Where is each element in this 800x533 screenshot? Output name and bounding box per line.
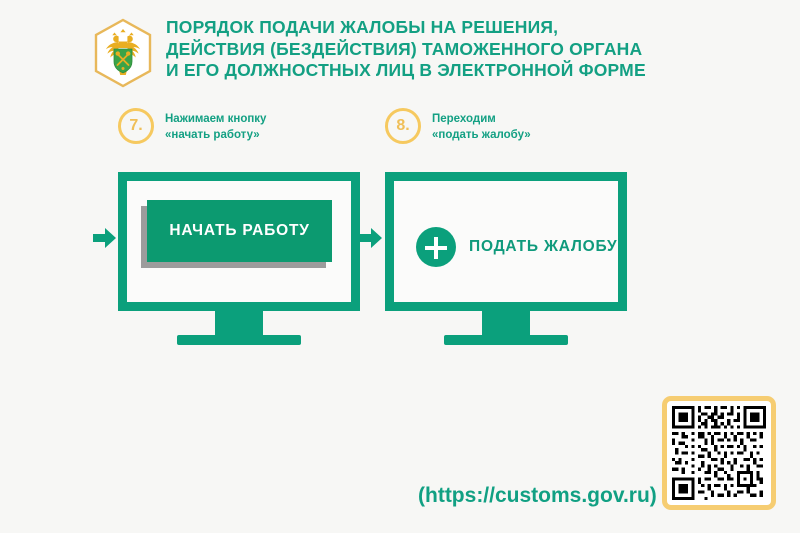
step-7: 7. Нажимаем кнопку «начать работу» xyxy=(118,108,266,144)
monitor-submit-complaint: ПОДАТЬ ЖАЛОБУ xyxy=(385,172,627,345)
title-line-3: И ЕГО ДОЛЖНОСТНЫХ ЛИЦ В ЭЛЕКТРОННОЙ ФОРМ… xyxy=(166,60,646,82)
monitor-2-stand-neck xyxy=(482,311,530,335)
step-7-number-badge: 7. xyxy=(118,108,154,144)
step-8-number-badge: 8. xyxy=(385,108,421,144)
submit-complaint-label[interactable]: ПОДАТЬ ЖАЛОБУ xyxy=(469,238,618,256)
step-8-line-1: Переходим xyxy=(432,111,531,127)
arrow-right-icon xyxy=(92,225,118,251)
step-8: 8. Переходим «подать жалобу» xyxy=(385,108,531,144)
monitor-start-work: НАЧАТЬ РАБОТУ xyxy=(118,172,360,345)
step-7-line-2: «начать работу» xyxy=(165,127,266,143)
step-8-line-2: «подать жалобу» xyxy=(432,127,531,143)
monitor-1-stand-base xyxy=(177,335,301,345)
monitor-1-stand-neck xyxy=(215,311,263,335)
title-line-1: ПОРЯДОК ПОДАЧИ ЖАЛОБЫ НА РЕШЕНИЯ, xyxy=(166,17,646,39)
step-7-line-1: Нажимаем кнопку xyxy=(165,111,266,127)
federal-customs-service-emblem xyxy=(92,18,154,88)
start-work-button-wrap: НАЧАТЬ РАБОТУ xyxy=(147,200,332,262)
poster-header: ПОРЯДОК ПОДАЧИ ЖАЛОБЫ НА РЕШЕНИЯ, ДЕЙСТВ… xyxy=(92,16,712,96)
qr-code[interactable] xyxy=(662,396,776,510)
site-url[interactable]: (https://customs.gov.ru) xyxy=(418,484,657,508)
title-line-2: ДЕЙСТВИЯ (БЕЗДЕЙСТВИЯ) ТАМОЖЕННОГО ОРГАН… xyxy=(166,39,646,61)
plus-icon[interactable] xyxy=(416,227,456,267)
step-7-text: Нажимаем кнопку «начать работу» xyxy=(165,108,266,143)
monitor-2-screen: ПОДАТЬ ЖАЛОБУ xyxy=(385,172,627,311)
step-8-text: Переходим «подать жалобу» xyxy=(432,108,531,143)
submit-complaint-action[interactable]: ПОДАТЬ ЖАЛОБУ xyxy=(416,227,618,267)
plus-icon-vertical-bar xyxy=(434,237,438,259)
monitor-2-stand-base xyxy=(444,335,568,345)
infographic-poster: ПОРЯДОК ПОДАЧИ ЖАЛОБЫ НА РЕШЕНИЯ, ДЕЙСТВ… xyxy=(0,0,800,533)
start-work-button[interactable]: НАЧАТЬ РАБОТУ xyxy=(147,200,332,262)
arrow-right-icon xyxy=(358,225,384,251)
poster-title: ПОРЯДОК ПОДАЧИ ЖАЛОБЫ НА РЕШЕНИЯ, ДЕЙСТВ… xyxy=(166,16,646,82)
monitor-1-screen: НАЧАТЬ РАБОТУ xyxy=(118,172,360,311)
